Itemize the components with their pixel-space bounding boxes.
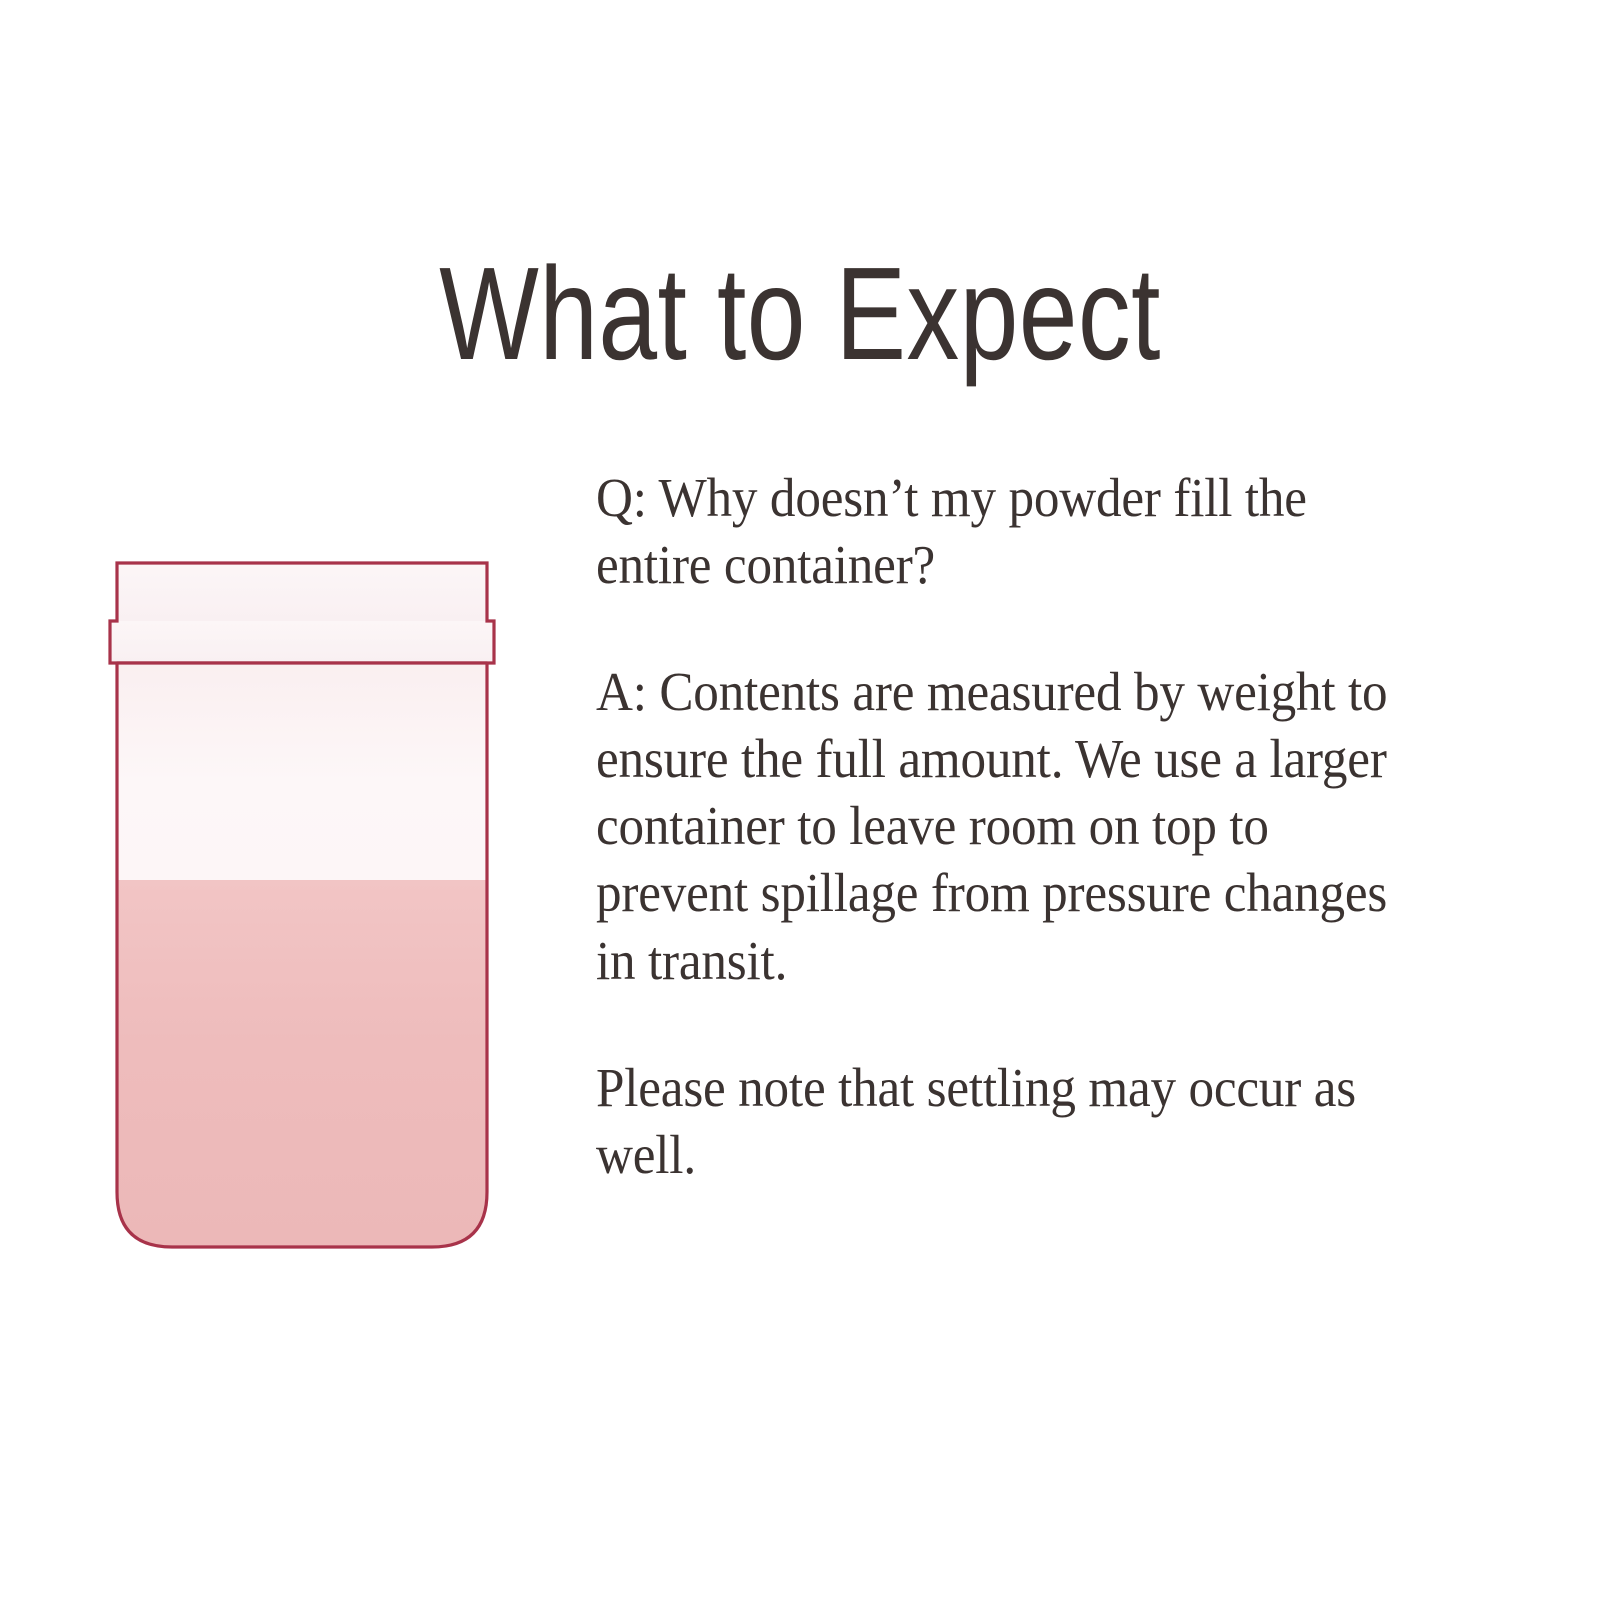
jar-svg <box>80 520 540 1300</box>
container-lid <box>110 563 494 663</box>
page-root: What to Expect <box>0 0 1600 1600</box>
lid-upper-section <box>117 563 487 621</box>
faq-text-column: Q: Why doesn’t my powder fill the entire… <box>596 464 1496 1188</box>
faq-answer: A: Contents are measured by weight to en… <box>596 658 1433 993</box>
empty-headspace <box>117 663 487 880</box>
page-title: What to Expect <box>160 248 1440 380</box>
powder-fill <box>117 880 487 1250</box>
powder-container-illustration <box>80 520 540 1300</box>
faq-note: Please note that settling may occur as w… <box>596 1054 1433 1188</box>
faq-question: Q: Why doesn’t my powder fill the entire… <box>596 464 1433 598</box>
lid-flange <box>110 621 494 663</box>
jar-body <box>117 663 487 1250</box>
